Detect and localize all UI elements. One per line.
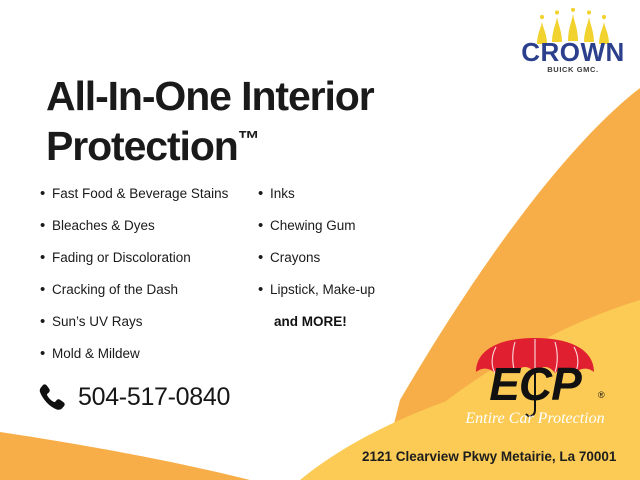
bullet-dot-icon: • <box>40 186 52 201</box>
list-item-label: Cracking of the Dash <box>52 282 178 297</box>
list-item: • Bleaches & Dyes <box>40 218 270 233</box>
list-item: • Fading or Discoloration <box>40 250 270 265</box>
bullet-dot-icon: • <box>40 250 52 265</box>
list-item: • Lipstick, Make-up <box>258 282 458 297</box>
list-item-label: Inks <box>270 186 295 201</box>
list-item-label: Fast Food & Beverage Stains <box>52 186 228 201</box>
phone-number-text: 504-517-0840 <box>78 383 230 412</box>
list-item-label: Fading or Discoloration <box>52 250 191 265</box>
crown-buick-gmc-logo: CROWN BUICK GMC. <box>521 8 625 78</box>
phone-contact-block[interactable]: 504-517-0840 <box>36 382 230 412</box>
crown-wordmark: CROWN <box>521 37 625 67</box>
ecp-tagline: Entire Car Protection <box>464 410 604 427</box>
list-item-label: Mold & Mildew <box>52 346 140 361</box>
crown-subtext: BUICK GMC. <box>547 65 598 74</box>
bullet-dot-icon: • <box>40 346 52 361</box>
list-item: • Sun’s UV Rays <box>40 314 270 329</box>
list-item-label: Sun’s UV Rays <box>52 314 143 329</box>
list-item: • Chewing Gum <box>258 218 458 233</box>
ecp-logo: ECP ® Entire Car Protection <box>446 336 624 428</box>
list-item-label: Chewing Gum <box>270 218 356 233</box>
trademark-symbol: ™ <box>238 126 260 151</box>
list-item: • Fast Food & Beverage Stains <box>40 186 270 201</box>
list-item-label: Lipstick, Make-up <box>270 282 375 297</box>
bullet-dot-icon: • <box>40 282 52 297</box>
bullet-dot-icon: • <box>258 218 270 233</box>
phone-handset-icon <box>36 382 66 412</box>
advertisement-canvas: CROWN BUICK GMC. All-In-One Interior Pro… <box>0 0 640 480</box>
list-item-label: Bleaches & Dyes <box>52 218 155 233</box>
ecp-initials: ECP <box>489 358 582 410</box>
list-item: • Cracking of the Dash <box>40 282 270 297</box>
bullet-dot-icon: • <box>258 250 270 265</box>
benefits-column-right: • Inks • Chewing Gum • Crayons • Lipstic… <box>258 186 458 329</box>
list-item: • Mold & Mildew <box>40 346 270 361</box>
registered-mark: ® <box>598 390 605 400</box>
list-item-label: Crayons <box>270 250 320 265</box>
address-text: 2121 Clearview Pkwy Metairie, La 70001 <box>362 449 616 464</box>
page-title: All-In-One Interior Protection™ <box>46 71 516 171</box>
headline-line-2: Protection <box>46 123 238 169</box>
list-item: • Crayons <box>258 250 458 265</box>
benefits-column-left: • Fast Food & Beverage Stains • Bleaches… <box>40 186 270 378</box>
headline-line-1: All-In-One Interior <box>46 73 374 119</box>
bullet-dot-icon: • <box>40 218 52 233</box>
bullet-dot-icon: • <box>258 282 270 297</box>
bullet-dot-icon: • <box>258 186 270 201</box>
bullet-dot-icon: • <box>40 314 52 329</box>
list-item: • Inks <box>258 186 458 201</box>
and-more-label: and MORE! <box>258 314 458 329</box>
